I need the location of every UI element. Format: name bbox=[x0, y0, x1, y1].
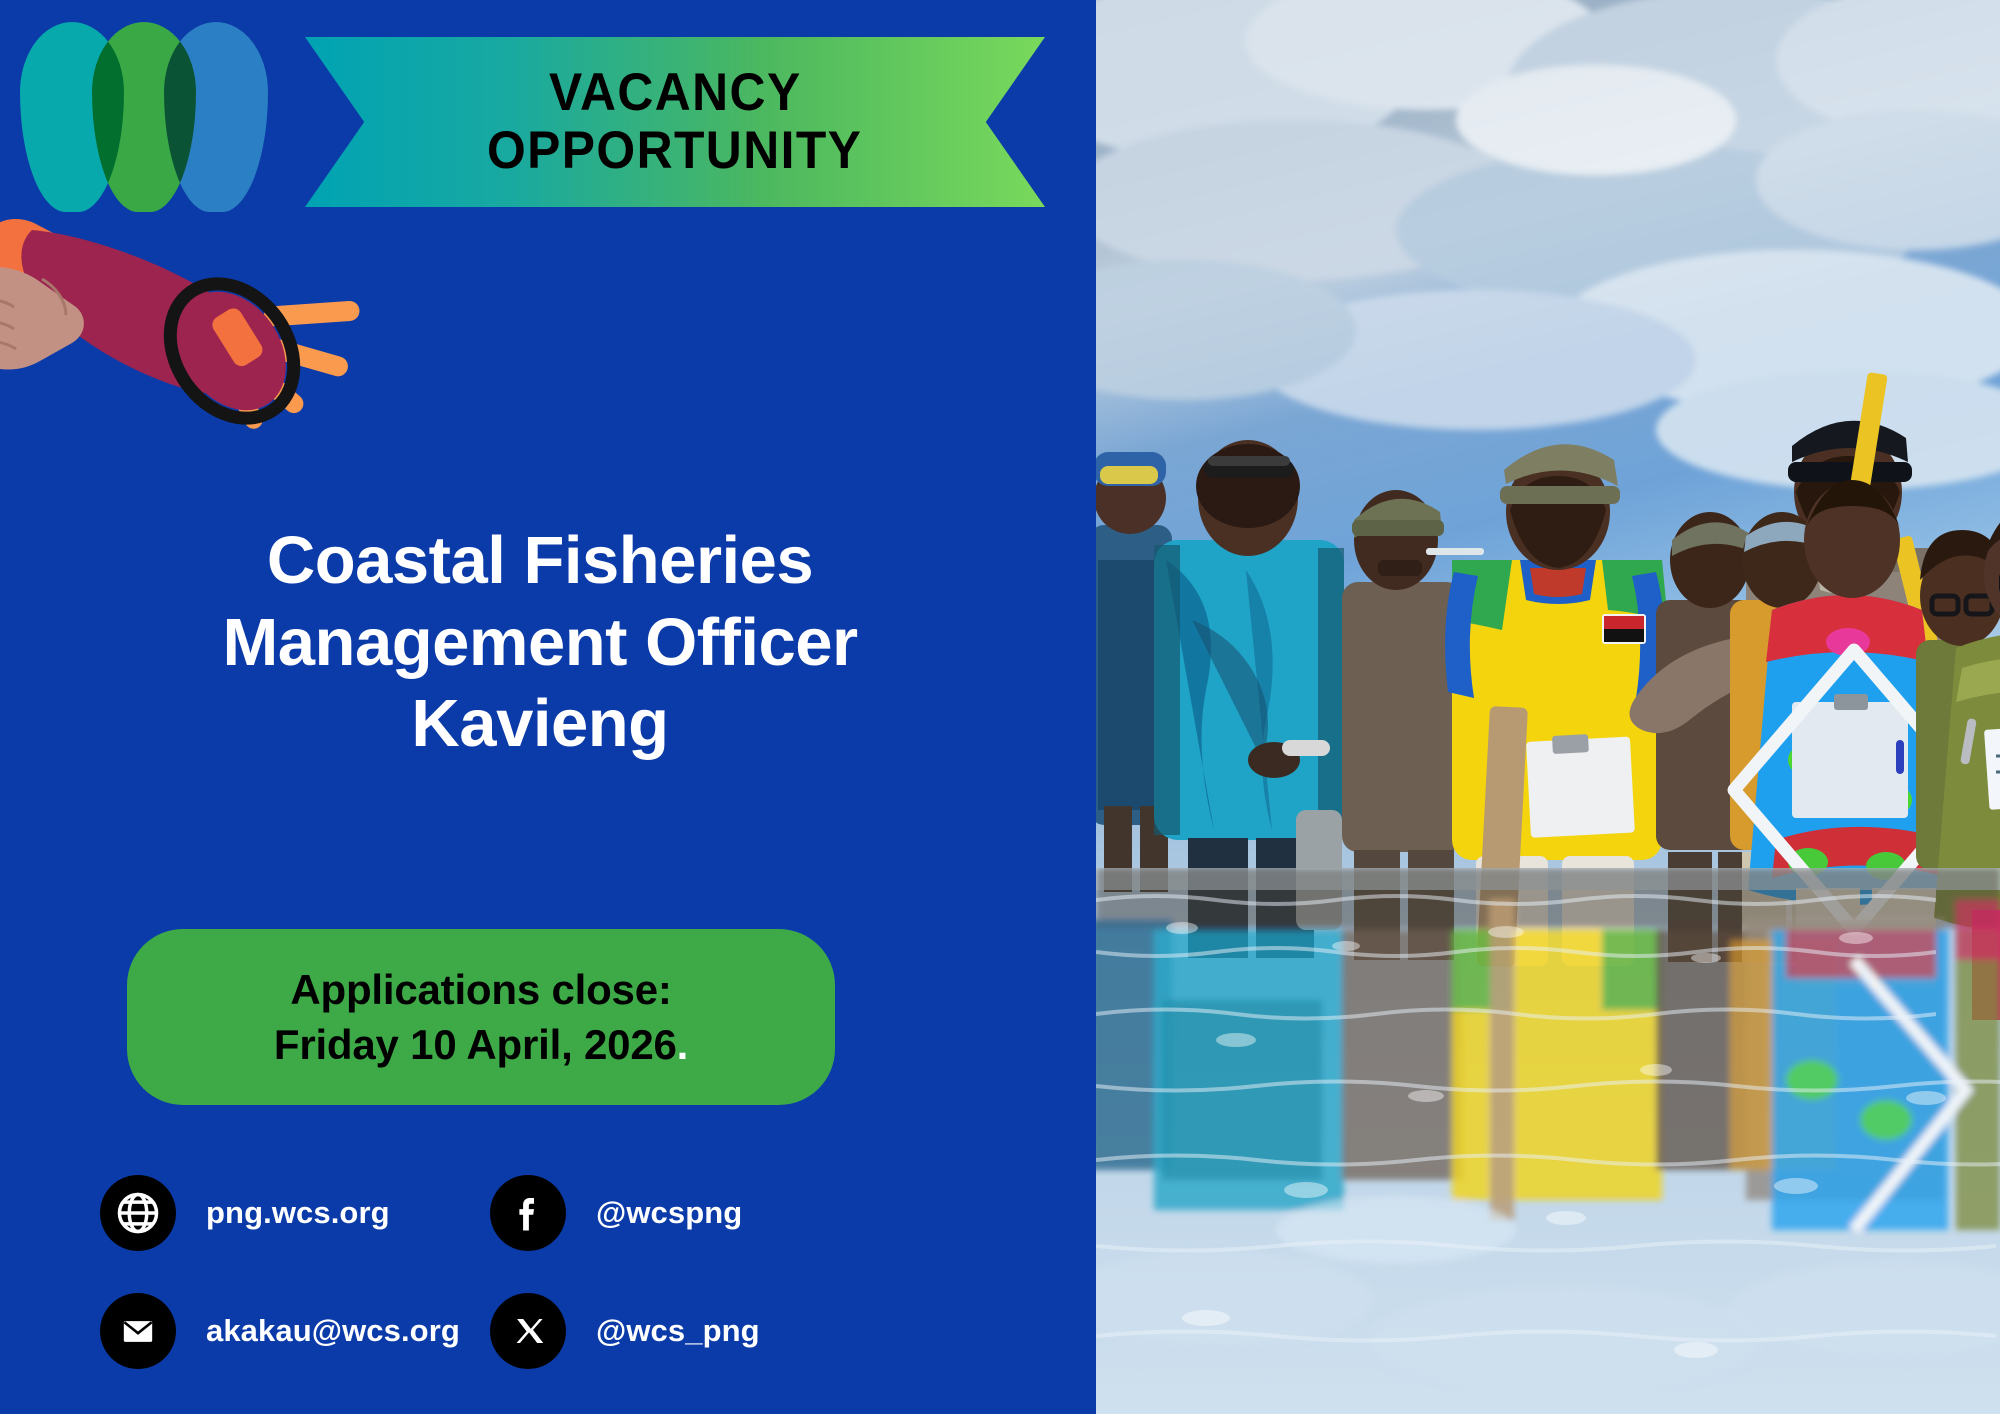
email-icon[interactable] bbox=[100, 1293, 176, 1369]
deadline-date: Friday 10 April, 2026 bbox=[274, 1021, 677, 1068]
left-info-panel: VACANCY OPPORTUNITY bbox=[0, 0, 1096, 1414]
facebook-label: @wcspng bbox=[596, 1195, 742, 1231]
job-title-line-1: Coastal Fisheries bbox=[40, 520, 1040, 602]
deadline-period: . bbox=[677, 1021, 688, 1068]
vacancy-poster: VACANCY OPPORTUNITY bbox=[0, 0, 2000, 1414]
megaphone-icon bbox=[0, 175, 400, 435]
deadline-date-row: Friday 10 April, 2026. bbox=[274, 1019, 688, 1070]
email-label: akakau@wcs.org bbox=[206, 1313, 460, 1349]
x-twitter-label: @wcs_png bbox=[596, 1313, 760, 1349]
photo-reflections bbox=[1096, 868, 2000, 1395]
page-title: Coastal Fisheries Management Officer Kav… bbox=[40, 520, 1040, 765]
x-twitter-icon[interactable] bbox=[490, 1293, 566, 1369]
contact-facebook[interactable]: @wcspng bbox=[490, 1163, 880, 1263]
megaphone-svg bbox=[0, 175, 400, 435]
contact-email[interactable]: akakau@wcs.org bbox=[100, 1281, 490, 1381]
applications-close-badge: Applications close: Friday 10 April, 202… bbox=[127, 929, 835, 1105]
ribbon-line-1: VACANCY bbox=[549, 65, 802, 121]
globe-icon[interactable] bbox=[100, 1175, 176, 1251]
ribbon-line-2: OPPORTUNITY bbox=[487, 123, 862, 179]
photo-svg bbox=[1096, 0, 2000, 1414]
deadline-label: Applications close: bbox=[290, 964, 671, 1015]
job-title-line-2: Management Officer bbox=[40, 602, 1040, 684]
contact-website[interactable]: png.wcs.org bbox=[100, 1163, 490, 1263]
vacancy-ribbon-banner: VACANCY OPPORTUNITY bbox=[305, 37, 1045, 207]
community-fisheries-survey-photo bbox=[1096, 0, 2000, 1414]
contact-x-twitter[interactable]: @wcs_png bbox=[490, 1281, 880, 1381]
facebook-icon[interactable] bbox=[490, 1175, 566, 1251]
contact-grid: png.wcs.org @wcspng akakau@wcs.org bbox=[100, 1163, 1030, 1381]
website-label: png.wcs.org bbox=[206, 1195, 390, 1231]
job-title-line-3: Kavieng bbox=[40, 683, 1040, 765]
